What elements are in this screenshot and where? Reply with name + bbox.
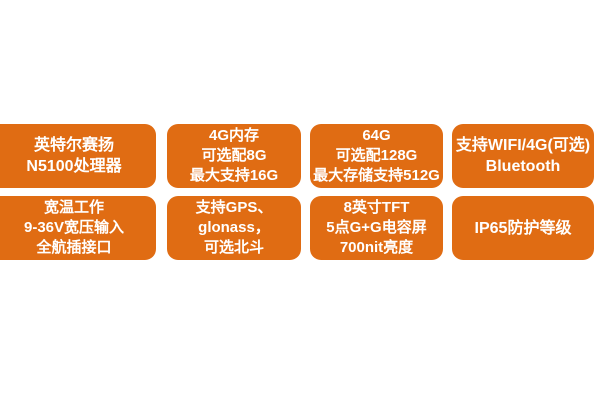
- spec-card-positioning[interactable]: 支持GPS、 glonass， 可选北斗: [167, 196, 301, 260]
- spec-card-protection[interactable]: IP65防护等级: [452, 196, 594, 260]
- spec-grid: 英特尔赛扬 N5100处理器 4G内存 可选配8G 最大支持16G 64G 可选…: [0, 124, 602, 262]
- spec-card-display-text: 8英寸TFT 5点G+G电容屏 700nit亮度: [326, 198, 426, 258]
- spec-card-protection-text: IP65防护等级: [475, 218, 572, 239]
- spec-card-power[interactable]: 宽温工作 9-36V宽压输入 全航插接口: [0, 196, 156, 260]
- spec-text-line: 宽温工作: [24, 198, 124, 218]
- spec-text-line: 64G: [313, 126, 440, 146]
- spec-text-line: 支持WIFI/4G(可选): [456, 135, 590, 156]
- spec-text-line: 700nit亮度: [326, 238, 426, 258]
- spec-text-line: N5100处理器: [26, 156, 121, 177]
- spec-text-line: IP65防护等级: [475, 218, 572, 239]
- spec-text-line: 可选北斗: [196, 238, 273, 258]
- spec-text-line: 5点G+G电容屏: [326, 218, 426, 238]
- spec-card-storage[interactable]: 64G 可选配128G 最大存储支持512G: [310, 124, 443, 188]
- spec-card-storage-text: 64G 可选配128G 最大存储支持512G: [313, 126, 440, 186]
- spec-text-line: 可选配8G: [190, 146, 278, 166]
- spec-card-wireless-text: 支持WIFI/4G(可选) Bluetooth: [456, 135, 590, 177]
- spec-text-line: 最大支持16G: [190, 166, 278, 186]
- spec-text-line: glonass，: [196, 218, 273, 238]
- spec-text-line: 9-36V宽压输入: [24, 218, 124, 238]
- spec-card-wireless[interactable]: 支持WIFI/4G(可选) Bluetooth: [452, 124, 594, 188]
- spec-text-line: Bluetooth: [456, 156, 590, 177]
- spec-text-line: 全航插接口: [24, 238, 124, 258]
- spec-text-line: 最大存储支持512G: [313, 166, 440, 186]
- spec-row-2: 宽温工作 9-36V宽压输入 全航插接口 支持GPS、 glonass， 可选北…: [0, 196, 602, 260]
- spec-card-memory[interactable]: 4G内存 可选配8G 最大支持16G: [167, 124, 301, 188]
- spec-row-1: 英特尔赛扬 N5100处理器 4G内存 可选配8G 最大支持16G 64G 可选…: [0, 124, 602, 188]
- spec-card-display[interactable]: 8英寸TFT 5点G+G电容屏 700nit亮度: [310, 196, 443, 260]
- spec-card-processor-text: 英特尔赛扬 N5100处理器: [26, 135, 121, 177]
- spec-card-positioning-text: 支持GPS、 glonass， 可选北斗: [196, 198, 273, 258]
- spec-text-line: 英特尔赛扬: [26, 135, 121, 156]
- spec-text-line: 可选配128G: [313, 146, 440, 166]
- spec-text-line: 4G内存: [190, 126, 278, 146]
- spec-card-processor[interactable]: 英特尔赛扬 N5100处理器: [0, 124, 156, 188]
- spec-card-memory-text: 4G内存 可选配8G 最大支持16G: [190, 126, 278, 186]
- spec-text-line: 支持GPS、: [196, 198, 273, 218]
- spec-text-line: 8英寸TFT: [326, 198, 426, 218]
- spec-card-power-text: 宽温工作 9-36V宽压输入 全航插接口: [24, 198, 124, 258]
